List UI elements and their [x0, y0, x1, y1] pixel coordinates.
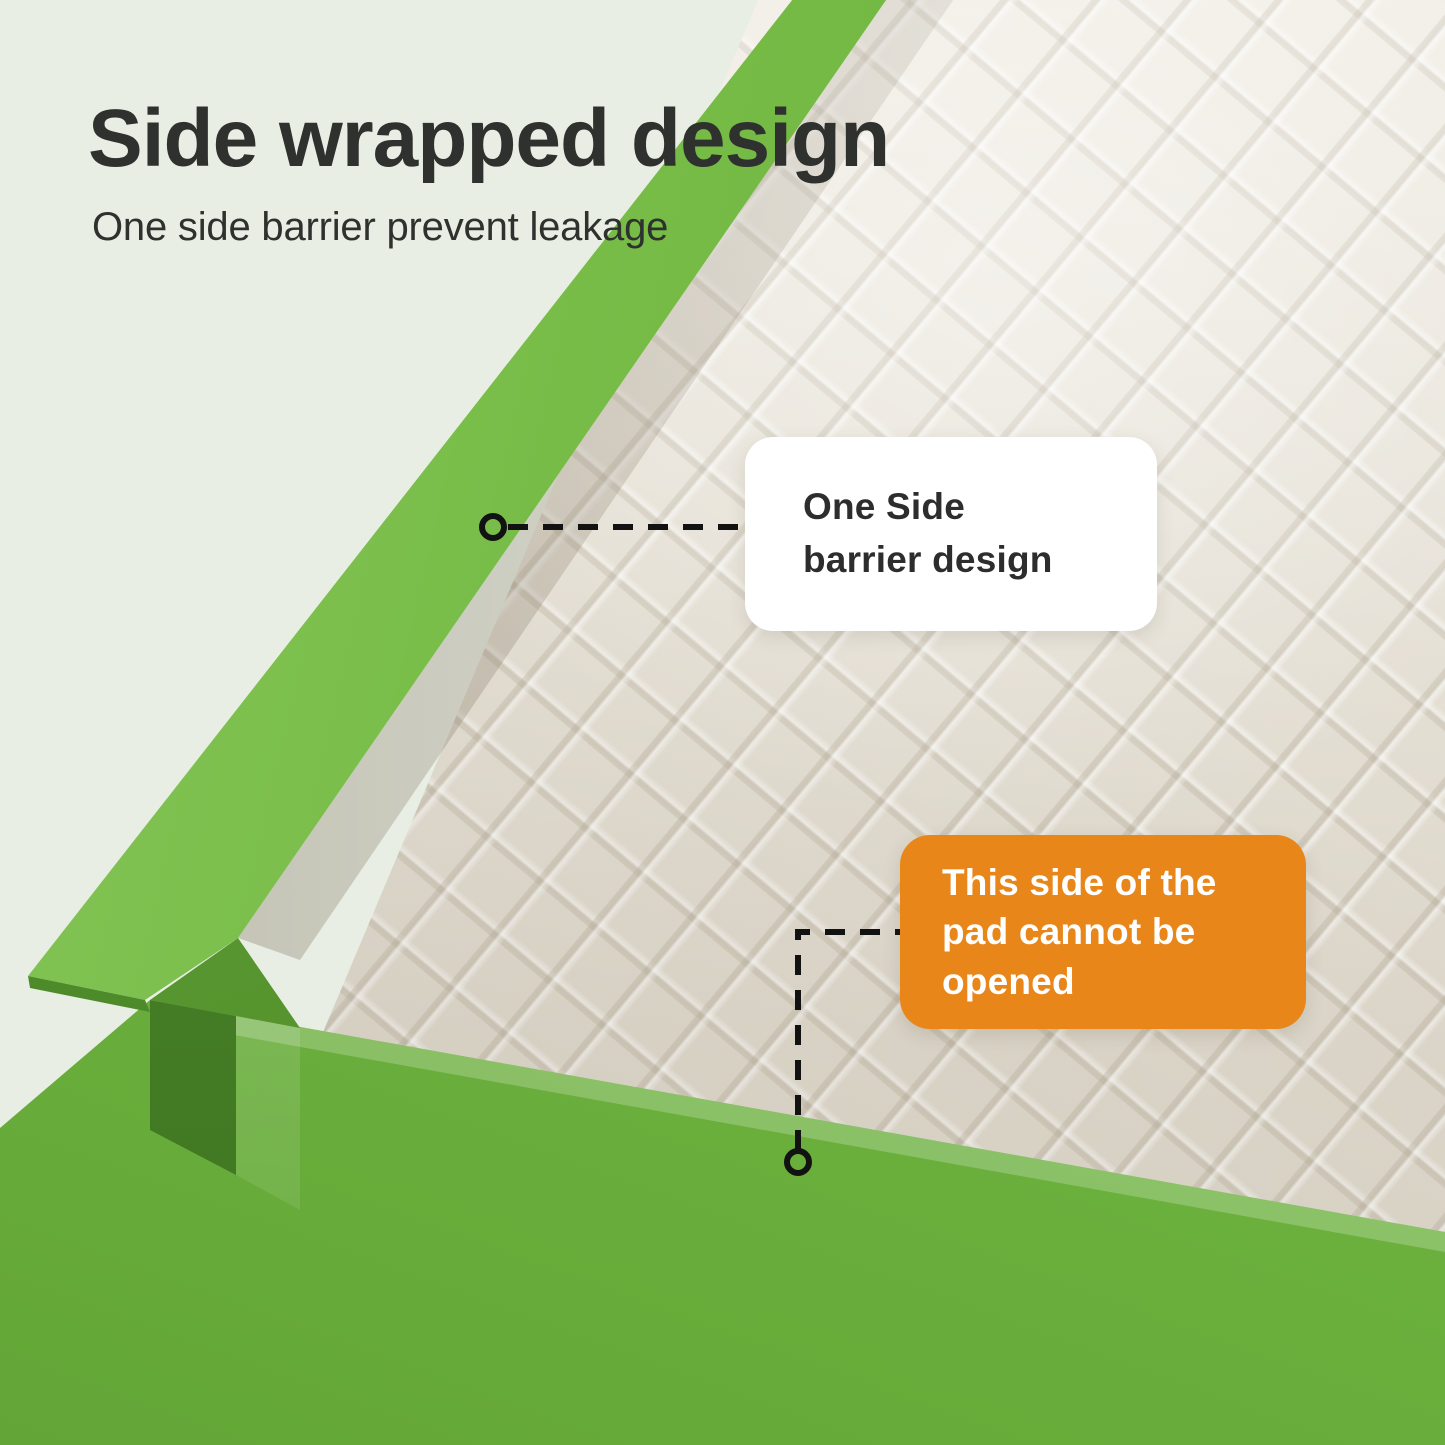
callout-orange-text: This side of the pad cannot be opened — [942, 858, 1217, 1006]
page-title: Side wrapped design — [88, 96, 1148, 181]
infographic-canvas: Side wrapped design One side barrier pre… — [0, 0, 1445, 1445]
callout-one-side-barrier-design[interactable]: One Side barrier design — [745, 437, 1157, 631]
page-subtitle: One side barrier prevent leakage — [92, 205, 1148, 250]
callout-pad-cannot-be-opened[interactable]: This side of the pad cannot be opened — [900, 835, 1306, 1029]
header-block: Side wrapped design One side barrier pre… — [88, 96, 1148, 250]
callout-white-text: One Side barrier design — [803, 481, 1053, 586]
